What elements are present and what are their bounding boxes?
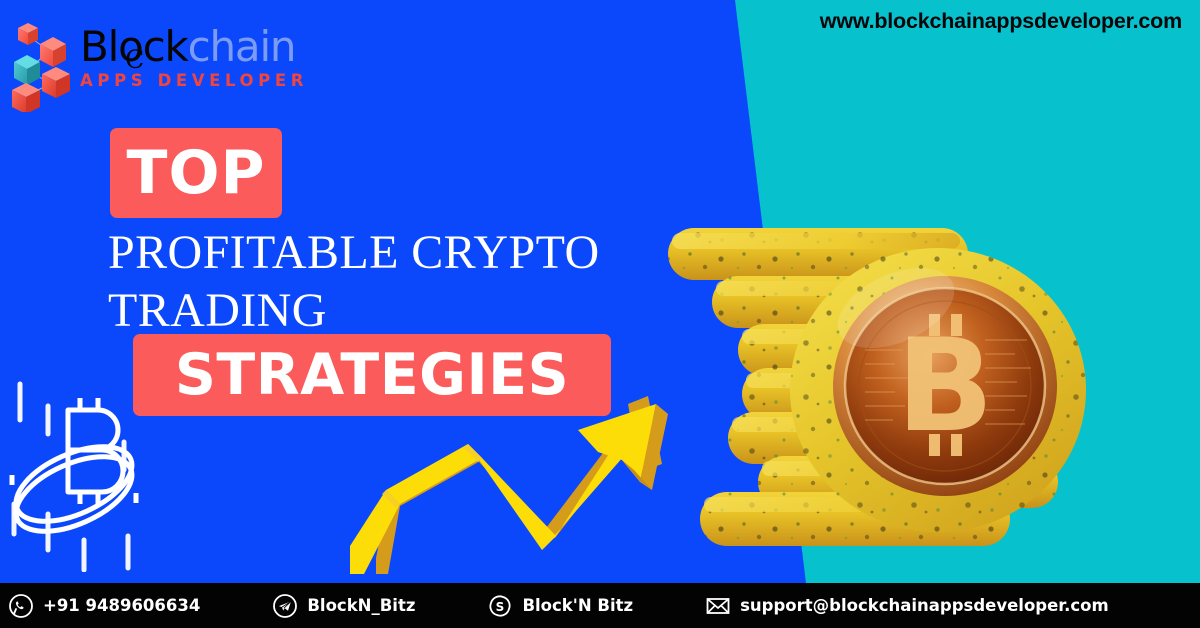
logo-coin-mark: C [125, 37, 143, 83]
cube-red-lower [42, 67, 70, 98]
website-url: www.blockchainappsdeveloper.com [820, 9, 1182, 34]
contact-footer-bar: +91 9489606634 BlockN_Bitz S Block'N Bit… [0, 583, 1200, 628]
upward-trend-arrow-icon [340, 386, 685, 581]
coin-stack-artwork: B [660, 140, 1150, 560]
logo-word-ck: ck [143, 22, 188, 71]
bitcoin-ring-outline-icon [2, 372, 182, 572]
headline-main: PROFITABLE CRYPTO TRADING [108, 224, 708, 340]
contact-label: BlockN_Bitz [307, 596, 415, 615]
cube-teal [14, 55, 40, 85]
cube-red-bottom [12, 83, 40, 112]
blockchain-cubes-icon [8, 20, 80, 112]
contact-label: +91 9489606634 [43, 596, 200, 615]
headline-line-1: PROFITABLE CRYPTO [108, 224, 708, 282]
headline-line-2: TRADING [108, 282, 708, 340]
logo-word-o-stylized: oC [118, 24, 143, 70]
logo-word-block: Bl [80, 22, 118, 71]
logo-word-chain: chain [188, 22, 296, 71]
contact-label: Block'N Bitz [522, 596, 633, 615]
whatsapp-icon [8, 593, 34, 619]
headline-badge-top: TOP [110, 128, 282, 218]
skype-icon: S [487, 593, 513, 619]
svg-text:S: S [496, 600, 505, 614]
cube-red-small [18, 23, 38, 45]
cube-red-upper [40, 37, 66, 67]
logo-tagline: APPS DEVELOPER [80, 71, 290, 90]
contact-email[interactable]: support@blockchainappsdeveloper.com [705, 593, 1109, 619]
logo-wordmark: BloCckchain APPS DEVELOPER [80, 24, 290, 90]
contact-label: support@blockchainappsdeveloper.com [740, 596, 1109, 615]
email-icon [705, 593, 731, 619]
contact-telegram[interactable]: BlockN_Bitz [272, 593, 415, 619]
bitcoin-coin: B [790, 248, 1086, 532]
brand-logo[interactable]: BloCckchain APPS DEVELOPER [8, 18, 288, 114]
contact-skype[interactable]: S Block'N Bitz [487, 593, 633, 619]
contact-whatsapp[interactable]: +91 9489606634 [8, 593, 200, 619]
promo-banner: B www.blockchainappsdeveloper.com [0, 0, 1200, 628]
telegram-icon [272, 593, 298, 619]
